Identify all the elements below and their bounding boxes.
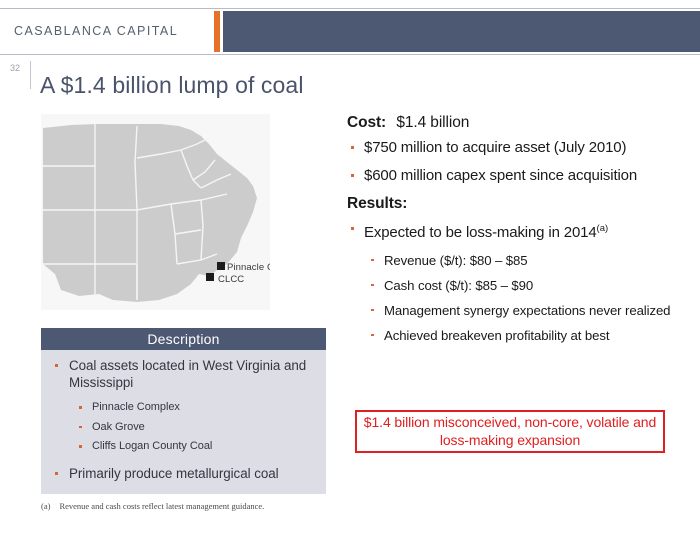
list-item-label: $600 million capex spent since acquisiti…	[364, 167, 637, 184]
list-item: Coal assets located in West Virginia and…	[49, 358, 318, 391]
map-marker-clcc	[206, 273, 214, 281]
bullet-square-icon	[79, 426, 82, 429]
list-item-label: Expected to be loss-making in 2014	[364, 224, 597, 241]
description-panel-title: Description	[41, 328, 326, 350]
list-item: $600 million capex spent since acquisiti…	[347, 167, 677, 186]
list-item-label: Pinnacle Complex	[92, 401, 180, 413]
list-item: Expected to be loss-making in 2014(a)	[347, 220, 677, 243]
list-item: Oak Grove	[49, 418, 318, 438]
page-number-divider	[30, 61, 31, 89]
list-item-label: Primarily produce metallurgical coal	[69, 466, 279, 481]
list-item-label: Oak Grove	[92, 421, 145, 433]
brand-name: CASABLANCA CAPITAL	[14, 24, 178, 38]
cost-value: $1.4 billion	[396, 114, 469, 131]
list-item-label: Cliffs Logan County Coal	[92, 440, 212, 452]
list-item: Revenue ($/t): $80 – $85	[347, 252, 677, 269]
bullet-square-icon	[79, 445, 82, 448]
map-label-clcc: CLCC	[218, 274, 244, 285]
list-item-label: $750 million to acquire asset (July 2010…	[364, 139, 626, 156]
list-item: Management synergy expectations never re…	[347, 302, 677, 319]
bullet-square-icon	[55, 364, 58, 367]
page-number: 32	[10, 63, 20, 73]
footnote-reference-marker: (a)	[597, 223, 609, 234]
list-item-label: Revenue ($/t): $80 – $85	[384, 253, 528, 268]
page-title: A $1.4 billion lump of coal	[40, 72, 304, 99]
bullet-square-icon	[351, 174, 354, 177]
locations-map: Pinnacle Complex CLCC Oak Grove Mine	[41, 114, 270, 310]
description-panel: Description Coal assets located in West …	[41, 328, 326, 494]
list-item: $750 million to acquire asset (July 2010…	[347, 139, 677, 158]
bullet-square-icon	[371, 334, 374, 337]
header-dark-bar	[223, 11, 700, 52]
list-item: Cash cost ($/t): $85 – $90	[347, 277, 677, 294]
footnote: (a)Revenue and cash costs reflect latest…	[41, 501, 264, 511]
footnote-marker: (a)	[41, 501, 50, 511]
map-label-pinnacle-complex: Pinnacle Complex	[227, 262, 270, 273]
bullet-square-icon	[371, 259, 374, 262]
list-item-label: Achieved breakeven profitability at best	[384, 328, 609, 343]
list-item: Cliffs Logan County Coal	[49, 437, 318, 457]
cost-heading: Cost: $1.4 billion	[347, 113, 677, 133]
header-bottom-rule	[0, 54, 700, 55]
callout-box: $1.4 billion misconceived, non-core, vol…	[355, 410, 665, 453]
bullet-square-icon	[351, 227, 354, 230]
description-panel-body: Coal assets located in West Virginia and…	[41, 350, 326, 494]
list-item: Primarily produce metallurgical coal	[49, 466, 318, 483]
map-marker-pinnacle-complex	[217, 262, 225, 270]
right-content-column: Cost: $1.4 billion $750 million to acqui…	[347, 113, 677, 352]
bullet-square-icon	[371, 309, 374, 312]
footnote-text: Revenue and cash costs reflect latest ma…	[59, 501, 264, 511]
bullet-square-icon	[351, 146, 354, 149]
slide-header: CASABLANCA CAPITAL	[0, 0, 700, 55]
list-item-label: Cash cost ($/t): $85 – $90	[384, 278, 533, 293]
header-top-rule	[0, 8, 700, 9]
bullet-square-icon	[79, 406, 82, 409]
bullet-square-icon	[371, 284, 374, 287]
list-item: Pinnacle Complex	[49, 398, 318, 418]
results-heading: Results:	[347, 194, 677, 214]
list-item-label: Management synergy expectations never re…	[384, 303, 670, 318]
header-orange-accent-bar	[214, 11, 220, 52]
list-item: Achieved breakeven profitability at best	[347, 327, 677, 344]
cost-label: Cost:	[347, 114, 386, 131]
callout-text: $1.4 billion misconceived, non-core, vol…	[357, 414, 663, 449]
bullet-square-icon	[55, 472, 58, 475]
list-item-label: Coal assets located in West Virginia and…	[69, 358, 306, 390]
